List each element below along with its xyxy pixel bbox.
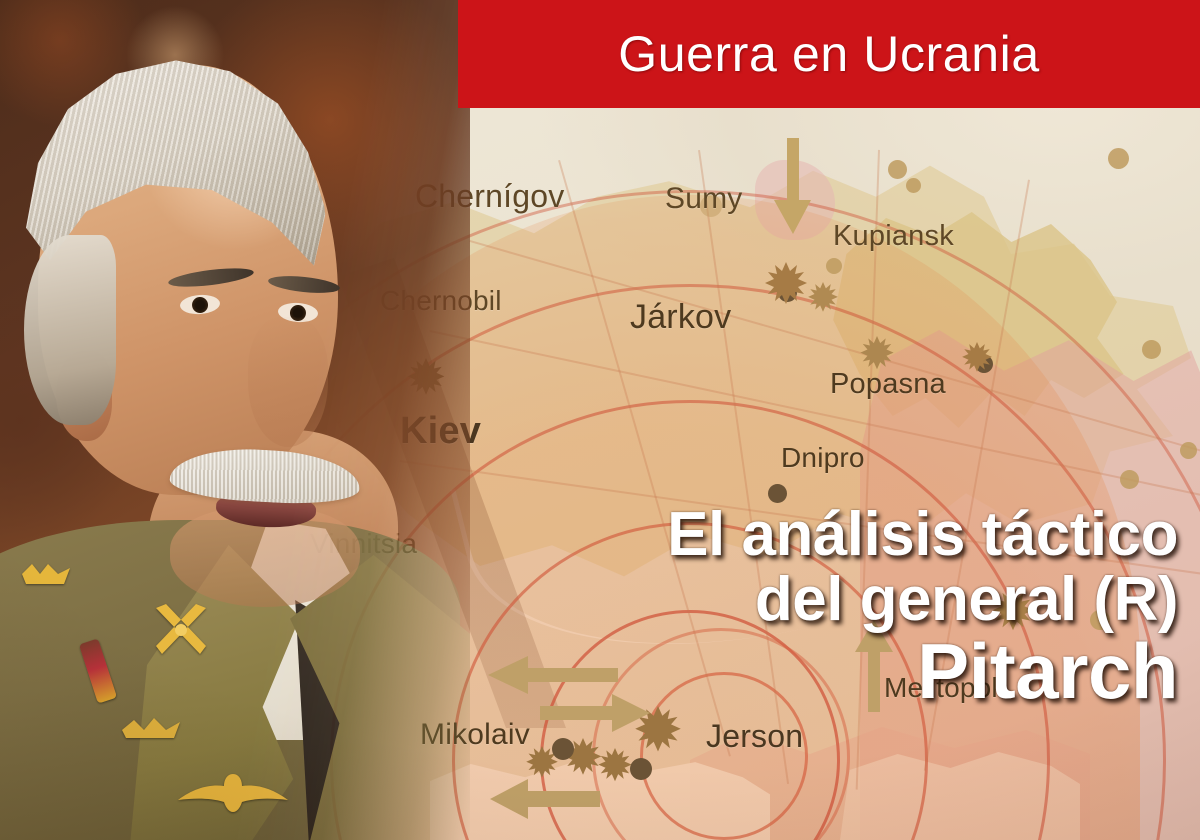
headline-line-2: del general (R) — [488, 570, 1178, 631]
map-dot — [1142, 340, 1161, 359]
headline-line-3: Pitarch — [488, 633, 1178, 709]
starburst-icon — [596, 748, 634, 786]
head — [20, 55, 350, 535]
map-label-kupiansk: Kupiansk — [833, 220, 954, 253]
crossed-swords-insignia — [150, 600, 212, 662]
map-dot — [1108, 148, 1129, 169]
hair-sideburn — [24, 235, 116, 425]
iris — [191, 296, 208, 313]
map-dot — [1120, 470, 1139, 489]
map-label-jerson: Jerson — [706, 718, 803, 755]
map-dot — [1180, 442, 1197, 459]
map-dot — [906, 178, 921, 193]
map-dot-city — [630, 758, 652, 780]
topic-banner-label: Guerra en Ucrania — [618, 25, 1040, 83]
starburst-icon — [806, 282, 840, 316]
wings-badge-insignia — [178, 770, 288, 814]
shoulder-star-insignia — [18, 556, 76, 586]
map-label-popasna: Popasna — [830, 368, 946, 401]
starburst-icon — [960, 342, 994, 376]
map-label-sumy: Sumy — [665, 182, 743, 216]
arrow-icon-down-kupiansk — [770, 138, 816, 234]
map-dot-city — [552, 738, 574, 760]
headline: El análisis táctico del general (R) Pita… — [488, 505, 1178, 709]
map-label-dnipro: Dnipro — [781, 442, 865, 474]
map-dot — [826, 258, 842, 274]
portrait-photo — [0, 0, 470, 840]
nose — [248, 317, 328, 447]
topic-banner: Guerra en Ucrania — [458, 0, 1200, 108]
starburst-icon — [762, 262, 810, 310]
collar-pin-insignia — [120, 708, 182, 742]
news-graphic: Chernígov Sumy Kupiansk Chernobil Járkov… — [0, 0, 1200, 840]
map-dot — [888, 160, 907, 179]
headline-line-1: El análisis táctico — [488, 505, 1178, 566]
map-label-jarkov: Járkov — [630, 298, 731, 337]
arrow-icon-advance-southwest — [470, 775, 600, 823]
